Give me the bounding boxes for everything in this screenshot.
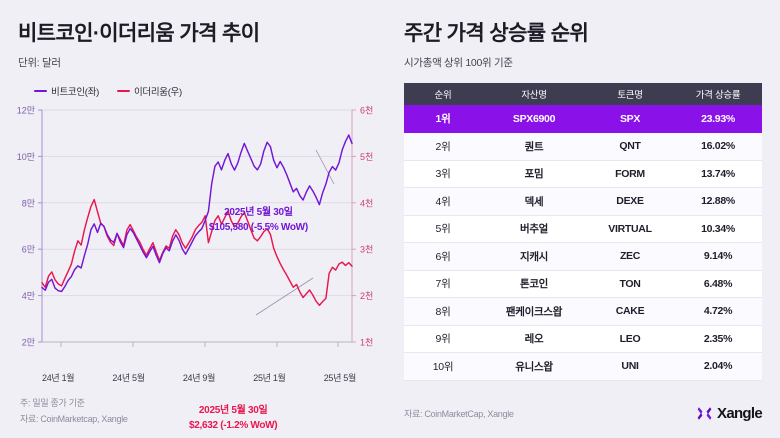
cell-change: 9.14% <box>674 243 762 271</box>
ranking-table: 순위 자산명 토큰명 가격 상승률 1위SPX6900SPX23.93%2위퀀트… <box>404 83 762 381</box>
table-row[interactable]: 9위레오LEO2.35% <box>404 325 762 353</box>
xangle-mark-icon <box>697 406 712 421</box>
cell-change: 4.72% <box>674 298 762 326</box>
legend-label-bitcoin: 비트코인(좌) <box>51 84 99 98</box>
right-axis-ticks <box>352 110 356 342</box>
table-row[interactable]: 5위버추얼VIRTUAL10.34% <box>404 215 762 243</box>
svg-text:2천: 2천 <box>360 291 373 301</box>
svg-text:6만: 6만 <box>22 245 35 255</box>
legend-item-bitcoin: 비트코인(좌) <box>34 84 99 98</box>
cell-change: 13.74% <box>674 160 762 188</box>
cell-rank: 2위 <box>404 133 482 161</box>
cell-rank: 7위 <box>404 270 482 298</box>
chart-unit-label: 단위: 달러 <box>18 55 376 70</box>
svg-text:4천: 4천 <box>360 198 373 208</box>
ranking-table-body: 1위SPX6900SPX23.93%2위퀀트QNT16.02%3위포밈FORM1… <box>404 105 762 380</box>
column-header-change: 가격 상승률 <box>674 83 762 105</box>
svg-text:2만: 2만 <box>22 338 35 348</box>
table-row[interactable]: 4위덱세DEXE12.88% <box>404 188 762 216</box>
table-row[interactable]: 10위유니스왑UNI2.04% <box>404 353 762 381</box>
table-row[interactable]: 1위SPX6900SPX23.93% <box>404 105 762 133</box>
svg-text:10만: 10만 <box>17 152 35 162</box>
cell-asset: 톤코인 <box>482 270 586 298</box>
cell-asset: 지캐시 <box>482 243 586 271</box>
x-tick-4: 25년 5월 <box>324 371 356 384</box>
ranking-footer: 자료: CoinMarketCap, Xangle Xangle <box>404 405 762 422</box>
chart-panel: 비트코인·이더리움 가격 추이 단위: 달러 비트코인(좌) 이더리움(우) <box>0 0 390 438</box>
bitcoin-annotation: 2025년 5월 30일 $105,580 (-5.5% WoW) <box>209 206 308 235</box>
cell-token: UNI <box>586 353 674 381</box>
cell-change: 2.35% <box>674 325 762 353</box>
xangle-logo-text: Xangle <box>717 405 762 422</box>
cell-change: 2.04% <box>674 353 762 381</box>
ranking-table-header: 순위 자산명 토큰명 가격 상승률 <box>404 83 762 105</box>
cell-rank: 3위 <box>404 160 482 188</box>
svg-text:12만: 12만 <box>17 106 35 116</box>
ethereum-annotation-value: $2,632 (-1.2% WoW) <box>189 419 277 434</box>
column-header-asset: 자산명 <box>482 83 586 105</box>
ranking-subtitle: 시가총액 상위 100위 기준 <box>404 55 762 70</box>
legend-label-ethereum: 이더리움(우) <box>134 84 182 98</box>
cell-change: 23.93% <box>674 105 762 133</box>
cell-change: 16.02% <box>674 133 762 161</box>
price-chart: 12만 10만 8만 6만 4만 2만 <box>16 102 378 370</box>
svg-text:3천: 3천 <box>360 245 373 255</box>
cell-rank: 8위 <box>404 298 482 326</box>
cell-token: QNT <box>586 133 674 161</box>
left-axis-ticks <box>38 110 42 342</box>
legend-swatch-bitcoin <box>34 90 47 93</box>
ranking-source: 자료: CoinMarketCap, Xangle <box>404 407 514 420</box>
cell-asset: 팬케이크스왑 <box>482 298 586 326</box>
cell-rank: 9위 <box>404 325 482 353</box>
cell-rank: 4위 <box>404 188 482 216</box>
svg-text:5천: 5천 <box>360 152 373 162</box>
svg-text:8만: 8만 <box>22 198 35 208</box>
cell-asset: 유니스왑 <box>482 353 586 381</box>
price-chart-svg: 12만 10만 8만 6만 4만 2만 <box>16 102 378 370</box>
x-tick-2: 24년 9월 <box>183 371 215 384</box>
cell-asset: 버추얼 <box>482 215 586 243</box>
table-row[interactable]: 7위톤코인TON6.48% <box>404 270 762 298</box>
cell-rank: 5위 <box>404 215 482 243</box>
page-title: 비트코인·이더리움 가격 추이 <box>18 22 376 46</box>
cell-token: DEXE <box>586 188 674 216</box>
cell-token: VIRTUAL <box>586 215 674 243</box>
cell-rank: 1위 <box>404 105 482 133</box>
cell-token: LEO <box>586 325 674 353</box>
chart-legend: 비트코인(좌) 이더리움(우) <box>18 84 376 98</box>
legend-item-ethereum: 이더리움(우) <box>117 84 182 98</box>
x-axis-labels: 24년 1월 24년 5월 24년 9월 25년 1월 25년 5월 <box>16 371 378 384</box>
table-row[interactable]: 3위포밈FORM13.74% <box>404 160 762 188</box>
left-axis-tick-labels: 12만 10만 8만 6만 4만 2만 <box>17 106 35 348</box>
bitcoin-annotation-value: $105,580 (-5.5% WoW) <box>209 221 308 236</box>
ethereum-annotation: 2025년 5월 30일 $2,632 (-1.2% WoW) <box>189 404 277 433</box>
cell-change: 6.48% <box>674 270 762 298</box>
bitcoin-annotation-date: 2025년 5월 30일 <box>209 206 308 221</box>
cell-token: CAKE <box>586 298 674 326</box>
table-row[interactable]: 2위퀀트QNT16.02% <box>404 133 762 161</box>
table-row[interactable]: 6위지캐시ZEC9.14% <box>404 243 762 271</box>
x-axis-ticks <box>61 342 338 347</box>
cell-token: FORM <box>586 160 674 188</box>
column-header-rank: 순위 <box>404 83 482 105</box>
ethereum-annotation-date: 2025년 5월 30일 <box>189 404 277 419</box>
x-tick-1: 24년 5월 <box>112 371 144 384</box>
ranking-title: 주간 가격 상승률 순위 <box>404 22 762 46</box>
cell-token: SPX <box>586 105 674 133</box>
cell-asset: 포밈 <box>482 160 586 188</box>
x-tick-0: 24년 1월 <box>42 371 74 384</box>
svg-text:1천: 1천 <box>360 338 373 348</box>
x-tick-3: 25년 1월 <box>253 371 285 384</box>
svg-text:4만: 4만 <box>22 291 35 301</box>
cell-rank: 6위 <box>404 243 482 271</box>
cell-asset: 덱세 <box>482 188 586 216</box>
cell-change: 10.34% <box>674 215 762 243</box>
column-header-token: 토큰명 <box>586 83 674 105</box>
right-axis-tick-labels: 6천 5천 4천 3천 2천 1천 <box>360 106 373 348</box>
table-header-row: 순위 자산명 토큰명 가격 상승률 <box>404 83 762 105</box>
cell-asset: SPX6900 <box>482 105 586 133</box>
cell-change: 12.88% <box>674 188 762 216</box>
cell-asset: 레오 <box>482 325 586 353</box>
infographic-page: 비트코인·이더리움 가격 추이 단위: 달러 비트코인(좌) 이더리움(우) <box>0 0 780 438</box>
cell-token: ZEC <box>586 243 674 271</box>
ranking-panel: 주간 가격 상승률 순위 시가총액 상위 100위 기준 순위 자산명 토큰명 … <box>390 0 780 438</box>
cell-token: TON <box>586 270 674 298</box>
table-row[interactable]: 8위팬케이크스왑CAKE4.72% <box>404 298 762 326</box>
cell-rank: 10위 <box>404 353 482 381</box>
legend-swatch-ethereum <box>117 90 130 93</box>
svg-text:6천: 6천 <box>360 106 373 116</box>
xangle-logo: Xangle <box>697 405 762 422</box>
cell-asset: 퀀트 <box>482 133 586 161</box>
